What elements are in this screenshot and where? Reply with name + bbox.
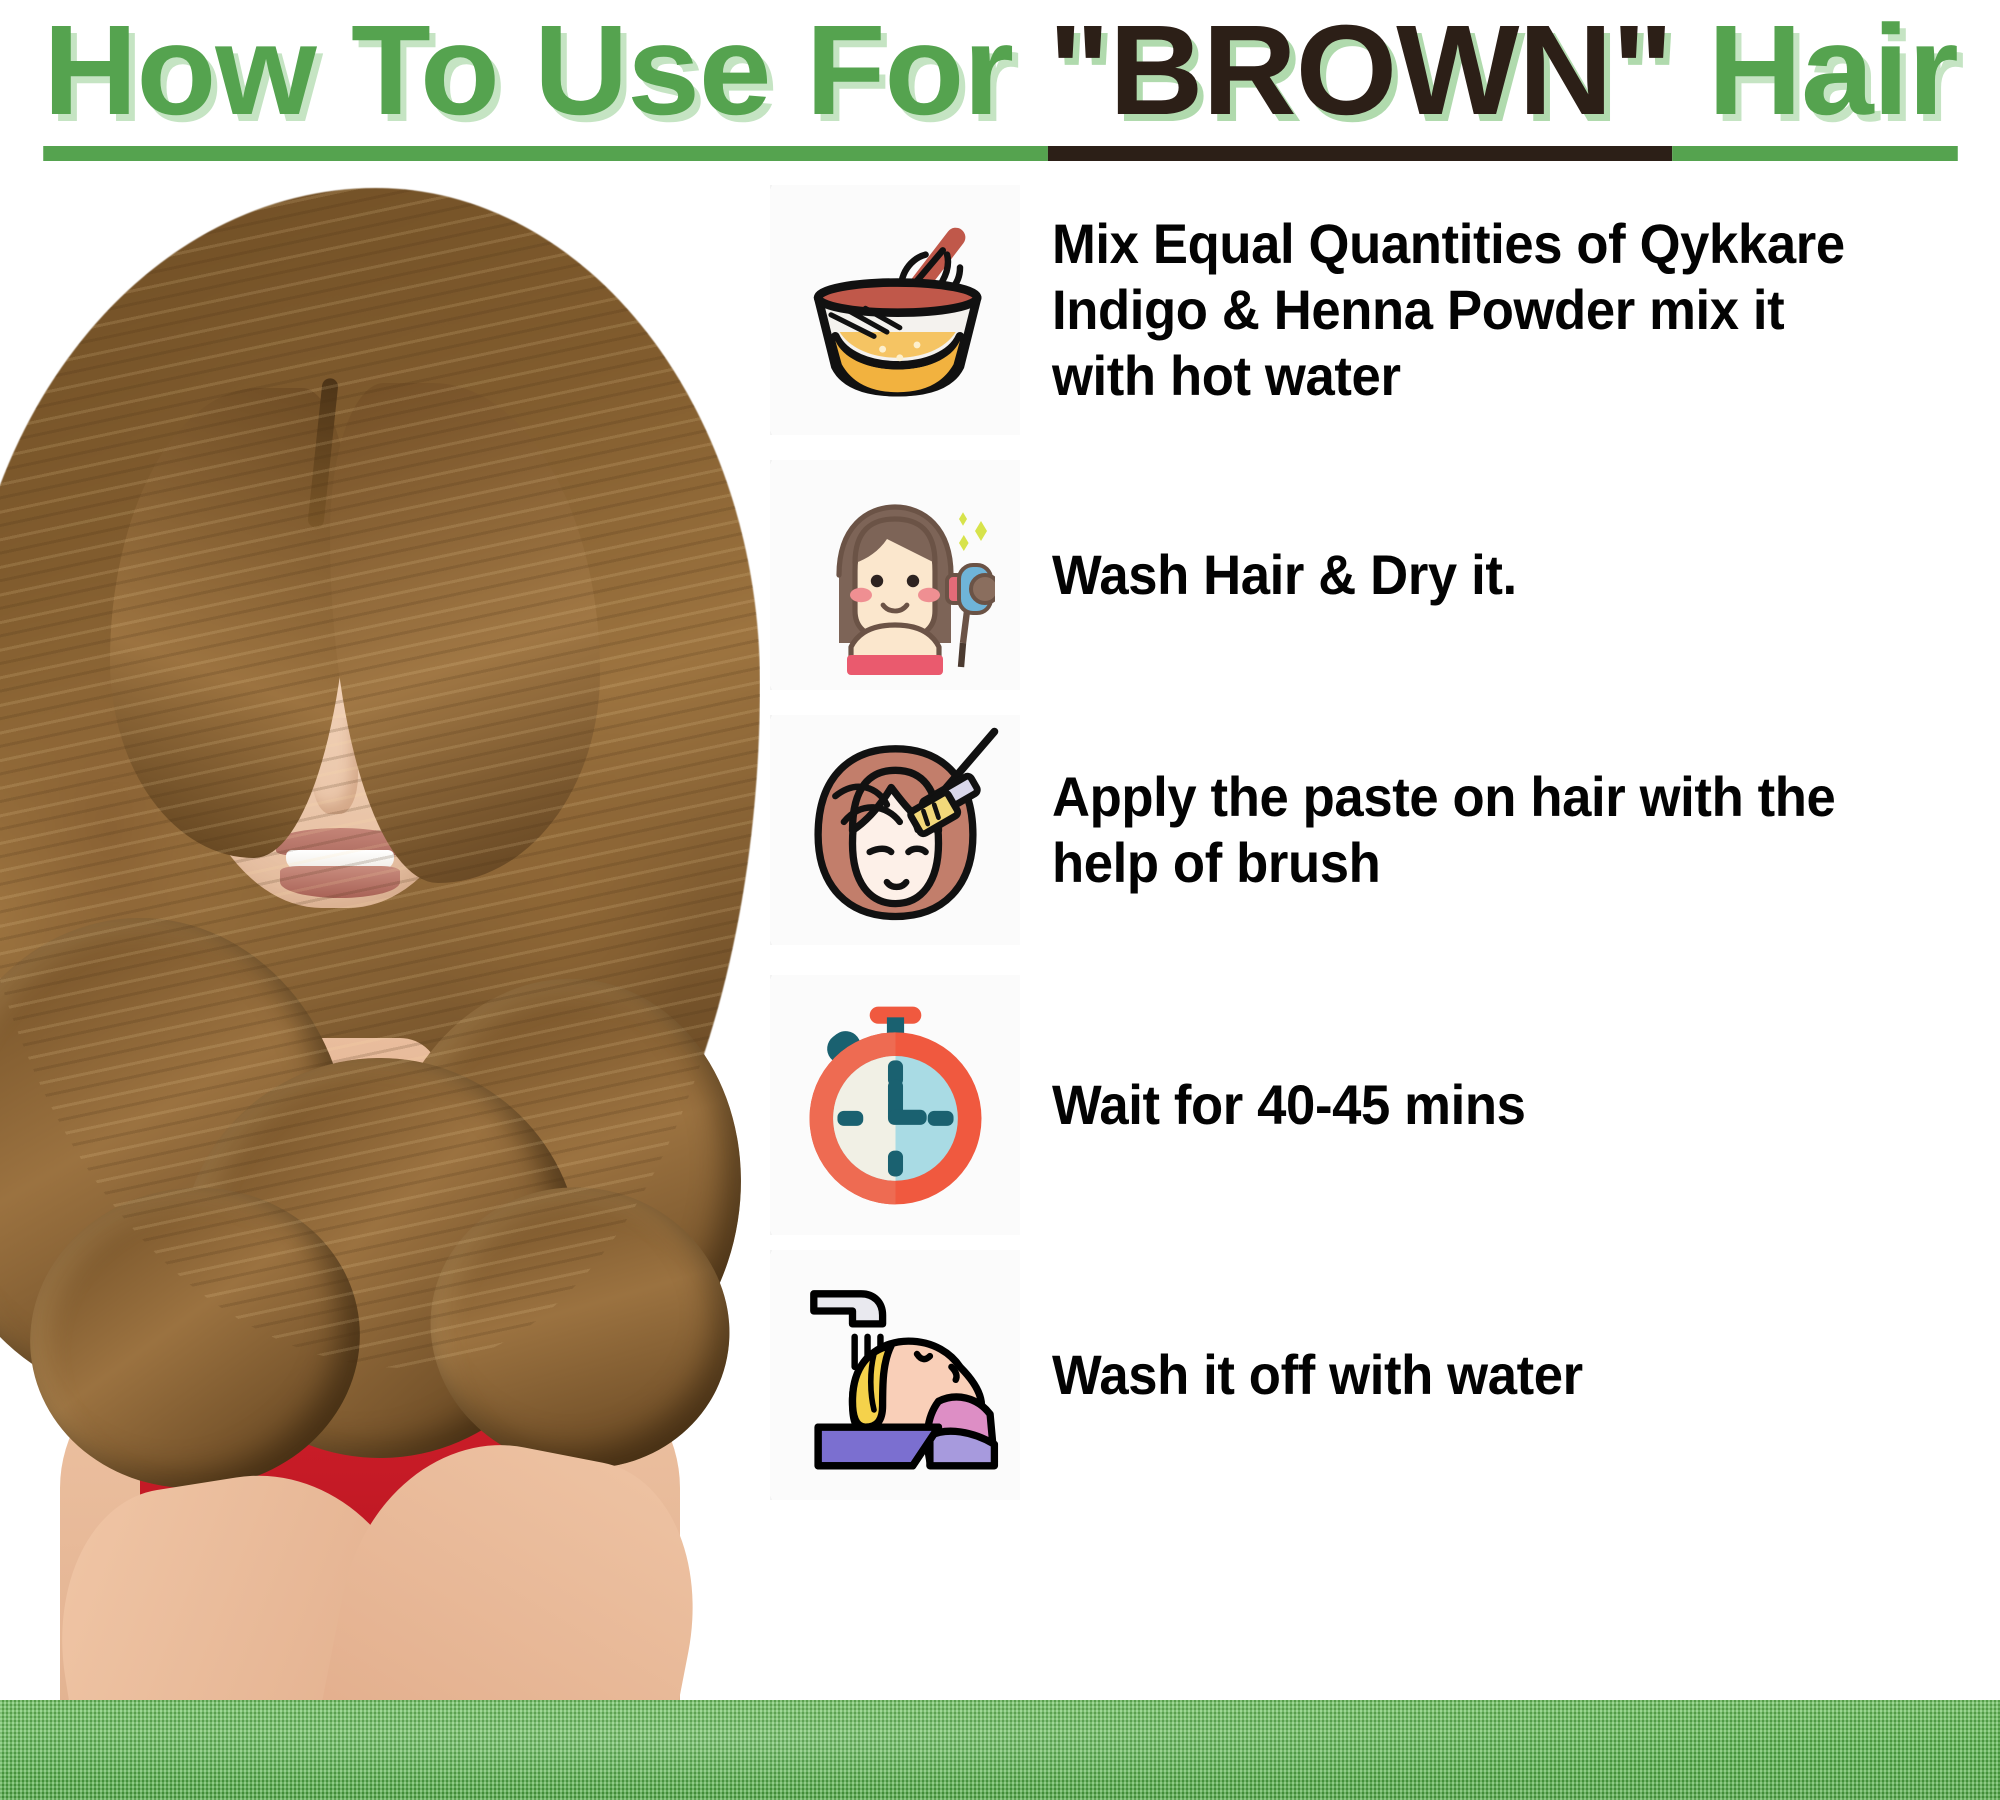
step-item: Wash Hair & Dry it. — [770, 460, 1548, 690]
stopwatch-timer-icon — [770, 975, 1020, 1235]
step-label: Wash Hair & Dry it. — [1020, 542, 1517, 608]
page-title-bar: How To Use For "BROWN" Hair — [0, 0, 2000, 178]
step-item: Apply the paste on hair with the help of… — [770, 715, 1950, 945]
model-photo — [0, 178, 760, 1703]
step-label: Apply the paste on hair with the help of… — [1020, 764, 1894, 896]
title-part-two: Hair — [1672, 0, 1957, 161]
step-item: Mix Equal Quantities of Qykkare Indigo &… — [770, 185, 1950, 435]
instruction-steps-list: Mix Equal Quantities of Qykkare Indigo &… — [770, 185, 2000, 1685]
step-item: Wait for 40-45 mins — [770, 975, 1558, 1235]
salon-hair-wash-sink-icon — [770, 1250, 1020, 1500]
title-highlight-brown: "BROWN" — [1048, 0, 1672, 161]
step-label: Wash it off with water — [1020, 1342, 1583, 1408]
green-fabric-band — [0, 1700, 2000, 1800]
step-label: Mix Equal Quantities of Qykkare Indigo &… — [1020, 211, 1894, 409]
mixing-bowl-whisk-icon — [770, 185, 1020, 435]
title-part-one: How To Use For — [43, 0, 1048, 161]
step-label: Wait for 40-45 mins — [1020, 1072, 1526, 1138]
woman-hair-brush-icon — [770, 715, 1020, 945]
step-item: Wash it off with water — [770, 1250, 1619, 1500]
woman-hair-dryer-icon — [770, 460, 1020, 690]
page-title: How To Use For "BROWN" Hair — [43, 6, 1957, 137]
